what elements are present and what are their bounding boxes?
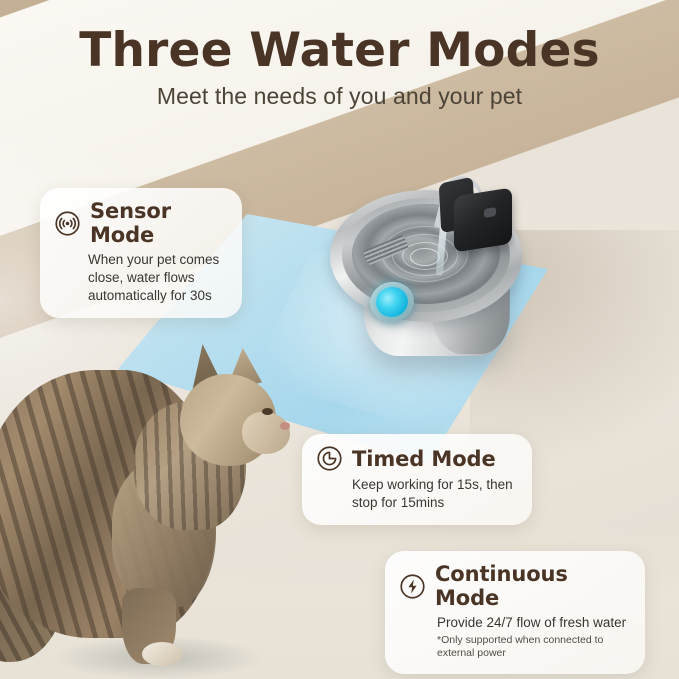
- scene-stage: Three Water Modes Meet the needs of you …: [0, 0, 679, 679]
- card-description: Provide 24/7 flow of fresh water: [399, 614, 629, 632]
- cat-bottom-fade: [0, 666, 294, 679]
- card-title: Continuous Mode: [435, 562, 629, 610]
- cat-nose: [280, 422, 290, 430]
- black-control-module: [454, 187, 512, 252]
- page-subtitle: Meet the needs of you and your pet: [0, 83, 679, 110]
- card-timed-mode[interactable]: Timed Mode Keep working for 15s, then st…: [302, 434, 532, 525]
- card-title: Timed Mode: [352, 447, 496, 471]
- lightning-bolt-icon: [399, 573, 426, 600]
- card-footnote: *Only supported when connected to extern…: [399, 634, 629, 661]
- water-level-window-glow: [373, 284, 411, 321]
- clock-icon: [316, 445, 343, 472]
- sensor-wave-icon: [54, 210, 81, 237]
- pet-water-fountain: [312, 170, 528, 380]
- card-continuous-mode[interactable]: Continuous Mode Provide 24/7 flow of fre…: [385, 551, 645, 674]
- water-ripple: [410, 248, 440, 266]
- tabby-cat: [0, 336, 294, 679]
- card-description: When your pet comes close, water flows a…: [54, 251, 226, 305]
- cat-paw: [142, 642, 182, 666]
- card-sensor-mode[interactable]: Sensor Mode When your pet comes close, w…: [40, 188, 242, 318]
- card-title: Sensor Mode: [90, 199, 226, 247]
- card-header: Continuous Mode: [399, 562, 629, 610]
- page-title: Three Water Modes: [0, 23, 679, 78]
- card-header: Timed Mode: [316, 445, 516, 472]
- cat-muzzle: [242, 412, 290, 454]
- card-description: Keep working for 15s, then stop for 15mi…: [316, 476, 516, 512]
- card-header: Sensor Mode: [54, 199, 226, 247]
- cat-eye: [262, 408, 273, 415]
